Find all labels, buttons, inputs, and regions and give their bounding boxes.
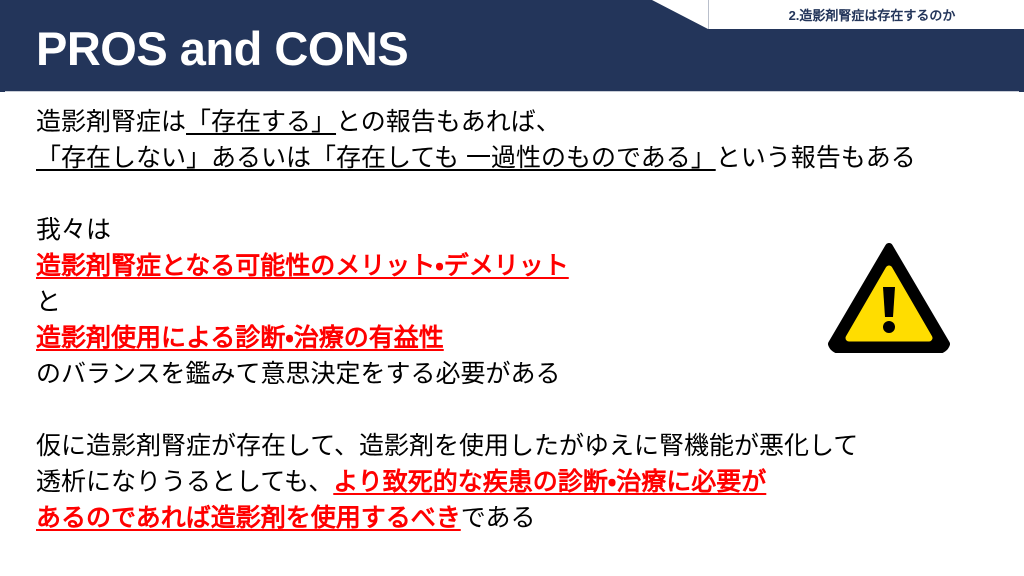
page-title: PROS and CONS [36, 21, 408, 77]
p1l1-segment-plain-2: との報告もあれば、 [336, 108, 561, 136]
paragraph-1: 造影剤腎症は「存在する」との報告もあれば、 「存在しない」あるいは「存在しても … [36, 104, 976, 176]
section-banner: 2.造影剤腎症は存在するのか [708, 0, 1024, 29]
warning-triangle-icon [828, 243, 950, 353]
paragraph-1-line-1: 造影剤腎症は「存在する」との報告もあれば、 [36, 104, 976, 140]
paragraph-gap-1 [36, 176, 976, 212]
p3l3-segment-plain: である [461, 504, 536, 532]
paragraph-2-line-5: のバランスを鑑みて意思決定をする必要がある [36, 356, 976, 392]
p3l3-segment-highlight: あるのであれば造影剤を使用するべき [36, 504, 461, 532]
p1l1-segment-plain-1: 造影剤腎症は [36, 108, 186, 136]
section-banner-label: 2.造影剤腎症は存在するのか [789, 5, 956, 24]
section-banner-divider [708, 0, 709, 29]
paragraph-gap-2 [36, 392, 976, 428]
paragraph-3: 仮に造影剤腎症が存在して、造影剤を使用したがゆえに腎機能が悪化して 透析になりう… [36, 428, 976, 536]
header-underline-rule [5, 91, 1019, 92]
paragraph-3-line-1: 仮に造影剤腎症が存在して、造影剤を使用したがゆえに腎機能が悪化して [36, 428, 976, 464]
p1l1-segment-underlined: 「存在する」 [186, 108, 336, 136]
p1l2-segment-plain: という報告もある [716, 144, 916, 172]
paragraph-3-line-3: あるのであれば造影剤を使用するべきである [36, 500, 976, 536]
paragraph-3-line-2: 透析になりうるとしても、より致死的な疾患の診断・治療に必要が [36, 464, 976, 500]
p3l2-segment-highlight: より致死的な疾患の診断・治療に必要が [333, 468, 766, 496]
paragraph-1-line-2: 「存在しない」あるいは「存在しても 一過性のものである」という報告もある [36, 140, 976, 176]
slide-canvas: 2.造影剤腎症は存在するのか PROS and CONS 造影剤腎症は「存在する… [0, 0, 1024, 576]
p3l2-segment-plain: 透析になりうるとしても、 [36, 468, 333, 496]
p1l2-segment-underlined: 「存在しない」あるいは「存在しても 一過性のものである」 [36, 144, 716, 172]
